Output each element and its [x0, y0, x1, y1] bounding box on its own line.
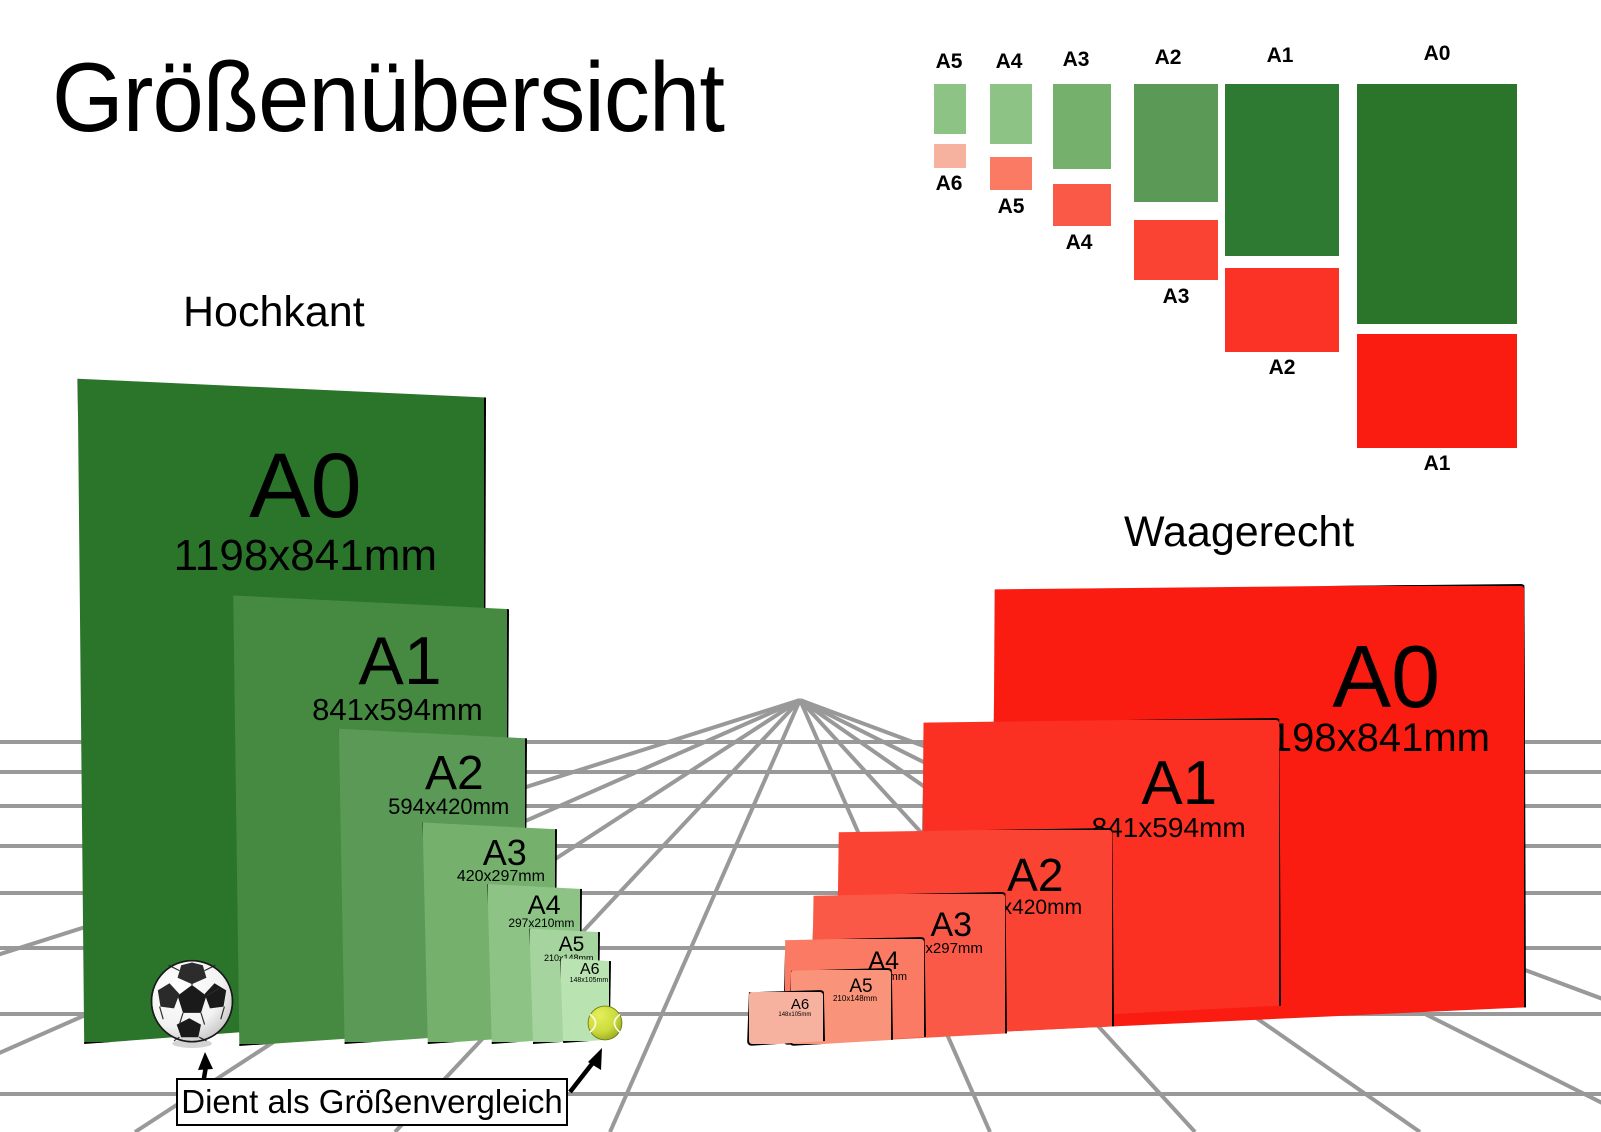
legend-landscape-swatch-a2 [1225, 268, 1339, 352]
landscape-sheet-a6-name: A6 [780, 996, 820, 1013]
legend-portrait-swatch-a2 [1134, 84, 1218, 202]
legend-portrait-swatch-a5 [934, 84, 966, 134]
legend-portrait-swatch-a1 [1225, 84, 1339, 256]
soccer-ball-icon [147, 958, 237, 1048]
legend-header-a1: A1 [1225, 44, 1335, 68]
size-comparison-legend: A5 A6 A4 A5 A3 A4 A2 A3 A1 A2 A0 A1 [910, 40, 1530, 480]
caption-landscape: Waagerecht [1124, 508, 1354, 557]
legend-landscape-swatch-a3 [1134, 220, 1218, 280]
page-title: Größenübersicht [52, 46, 724, 149]
legend-landscape-swatch-a1 [1357, 334, 1517, 448]
legend-landscape-swatch-a6 [934, 144, 966, 168]
legend-portrait-swatch-a4 [990, 84, 1032, 144]
legend-sublabel-a2: A2 [1225, 356, 1339, 380]
landscape-sheet-a1-name: A1 [1094, 748, 1265, 819]
legend-portrait-swatch-a3 [1053, 84, 1111, 169]
tennis-ball-icon [587, 1005, 623, 1041]
portrait-sheet-a1-dims: 841x594mm [302, 692, 494, 728]
portrait-sheet-a3-dims: 420x297mm [455, 868, 547, 886]
legend-sublabel-a4: A4 [1050, 231, 1108, 255]
callout-box: Dient als Größenvergleich [176, 1078, 568, 1126]
caption-portrait: Hochkant [183, 288, 365, 337]
landscape-sheet-a6-dims: 148x105mm [770, 1012, 820, 1018]
infographic-canvas: Größenübersicht Hochkant Waagerecht A5 A… [0, 0, 1601, 1132]
portrait-sheet-a0-dims: 1198x841mm [159, 531, 451, 581]
landscape-sheet-a0-name: A0 [1259, 626, 1513, 728]
legend-portrait-swatch-a0 [1357, 84, 1517, 324]
landscape-sheet-a6[interactable]: A6 148x105mm [747, 990, 825, 1046]
legend-header-a2: A2 [1134, 46, 1202, 70]
portrait-sheet-a2-name: A2 [395, 746, 514, 801]
portrait-sheet-a1-name: A1 [315, 622, 485, 700]
legend-header-a3: A3 [1050, 48, 1102, 72]
legend-sublabel-a5: A5 [986, 195, 1036, 219]
legend-sublabel-a1: A1 [1357, 452, 1517, 476]
legend-header-a4: A4 [986, 50, 1032, 74]
legend-header-a5: A5 [926, 50, 972, 74]
landscape-sheet-a5-dims: 210x148mm [823, 994, 887, 1003]
legend-landscape-swatch-a4 [1053, 184, 1111, 226]
legend-sublabel-a6: A6 [926, 172, 972, 196]
legend-landscape-swatch-a5 [990, 157, 1032, 190]
legend-sublabel-a3: A3 [1134, 285, 1218, 309]
portrait-sheet-a6-dims: 148x105mm [570, 977, 606, 984]
callout-text: Dient als Größenvergleich [178, 1080, 566, 1124]
portrait-sheet-a4-dims: 297x210mm [508, 916, 574, 930]
portrait-sheet-a2-dims: 594x420mm [384, 794, 514, 820]
portrait-sheet-a0-name: A0 [184, 434, 428, 539]
legend-header-a0: A0 [1357, 42, 1517, 66]
